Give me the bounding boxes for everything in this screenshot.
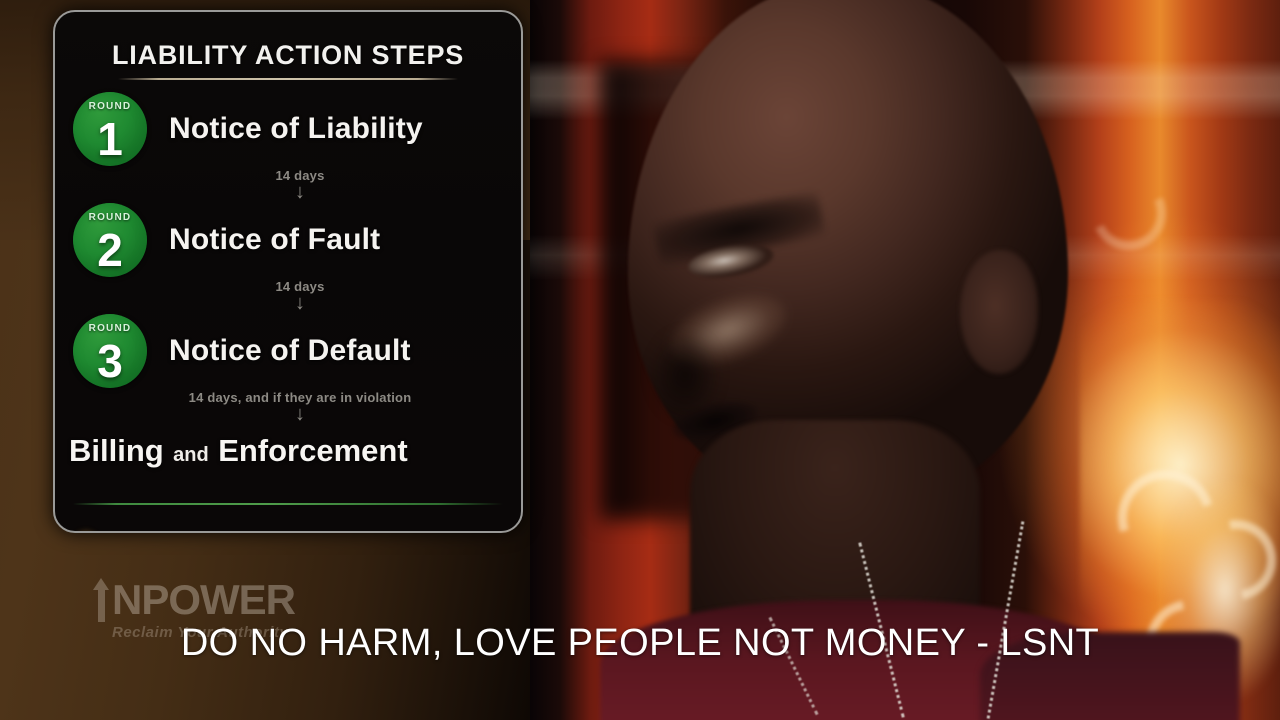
round-badge-number: 1 bbox=[97, 116, 123, 162]
round-badge-caption: ROUND bbox=[73, 212, 147, 223]
step-row-1: ROUND 1 Notice of Liability bbox=[55, 92, 521, 166]
round-badge-caption: ROUND bbox=[73, 323, 147, 334]
final-outcome-row: Billing and Enforcement bbox=[55, 433, 521, 469]
steps-list: ROUND 1 Notice of Liability 14 days ↓ RO… bbox=[55, 92, 521, 425]
final-word-billing: Billing bbox=[69, 433, 164, 468]
step-row-2: ROUND 2 Notice of Fault bbox=[55, 203, 521, 277]
round-badge-caption: ROUND bbox=[73, 101, 147, 112]
step-label-2: Notice of Fault bbox=[169, 223, 380, 257]
step-connector-3: 14 days, and if they are in violation ↓ bbox=[79, 388, 521, 425]
arrow-down-icon: ↓ bbox=[79, 183, 521, 203]
round-badge-1: ROUND 1 bbox=[73, 92, 147, 166]
step-connector-2: 14 days ↓ bbox=[79, 277, 521, 314]
round-badge-number: 2 bbox=[97, 227, 123, 273]
step-connector-1: 14 days ↓ bbox=[79, 166, 521, 203]
video-caption: DO NO HARM, LOVE PEOPLE NOT MONEY - LSNT bbox=[0, 622, 1280, 665]
section-divider bbox=[73, 503, 503, 505]
contact-callout[interactable]: ? Want to help with regional translation… bbox=[73, 531, 521, 533]
step-label-3: Notice of Default bbox=[169, 334, 411, 368]
liability-action-steps-card: LIABILITY ACTION STEPS ROUND 1 Notice of… bbox=[53, 10, 523, 533]
question-mark-icon: ? bbox=[73, 531, 99, 533]
arrow-down-icon: ↓ bbox=[79, 294, 521, 314]
final-word-enforcement: Enforcement bbox=[218, 433, 407, 468]
step-row-3: ROUND 3 Notice of Default bbox=[55, 314, 521, 388]
title-underline bbox=[118, 78, 458, 80]
arrow-down-icon: ↓ bbox=[79, 405, 521, 425]
step-label-1: Notice of Liability bbox=[169, 112, 423, 146]
card-title: LIABILITY ACTION STEPS bbox=[55, 40, 521, 71]
final-conjunction: and bbox=[168, 444, 214, 466]
round-badge-number: 3 bbox=[97, 338, 123, 384]
video-player-frame: LIABILITY ACTION STEPS ROUND 1 Notice of… bbox=[0, 0, 1280, 720]
round-badge-3: ROUND 3 bbox=[73, 314, 147, 388]
round-badge-2: ROUND 2 bbox=[73, 203, 147, 277]
person-ear bbox=[960, 250, 1038, 374]
